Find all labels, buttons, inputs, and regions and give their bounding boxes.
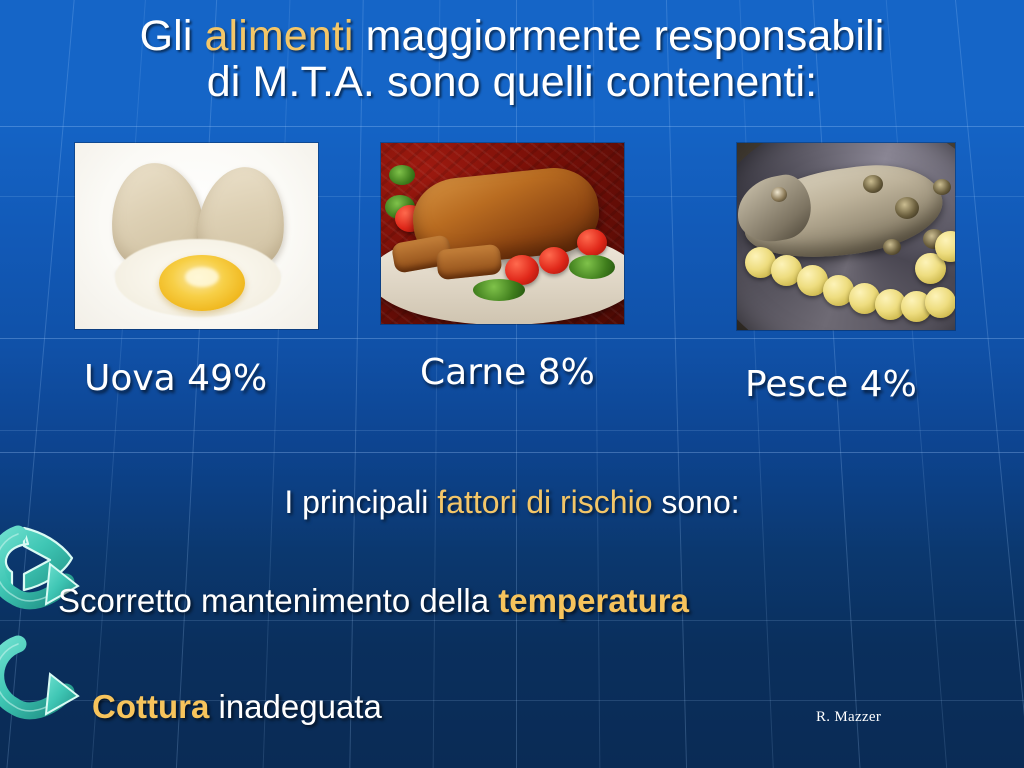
caption-pesce: Pesce 4% [745, 364, 917, 405]
title-line-1: Gli alimenti maggiormente responsabili [0, 14, 1024, 60]
tomato-shape [577, 229, 607, 256]
fish-with-potatoes-photo [737, 143, 955, 330]
fish-eye-icon [771, 187, 787, 202]
page-title: Gli alimenti maggiormente responsabili d… [0, 14, 1024, 105]
risk-item-cottura-keyword: Cottura [92, 688, 209, 725]
curved-arrow-icon [0, 634, 80, 730]
fish-scene [737, 143, 955, 330]
fish-spot [933, 179, 951, 195]
potato-balls-row [739, 247, 955, 329]
egg-scene [75, 143, 318, 329]
risk-item-cottura-post: inadeguata [209, 688, 382, 725]
title-line-1-pre: Gli [140, 12, 205, 60]
roast-meat-platter-photo [381, 143, 624, 324]
parsley-garnish [473, 279, 525, 301]
risk-item-temperature-pre: Scorretto mantenimento della [58, 582, 498, 619]
egg-yolk-shape [159, 255, 245, 311]
risk-item-cottura: Cottura inadeguata [92, 688, 382, 726]
title-line-2: di M.T.A. sono quelli contenenti: [0, 60, 1024, 106]
risk-factors-heading: I principali fattori di rischio sono: [0, 484, 1024, 521]
cracked-eggs-photo [75, 143, 318, 329]
risk-item-temperature-keyword: temperatura [498, 582, 689, 619]
risk-heading-keyword: fattori di rischio [437, 484, 652, 520]
tomato-shape [539, 247, 569, 274]
caption-carne: Carne 8% [420, 352, 595, 393]
meat-scene [381, 143, 624, 324]
caption-uova: Uova 49% [84, 358, 267, 399]
title-line-1-post: maggiormente responsabili [354, 12, 885, 60]
risk-heading-post: sono: [652, 484, 739, 520]
risk-heading-pre: I principali [284, 484, 437, 520]
slide-canvas: Gli alimenti maggiormente responsabili d… [0, 0, 1024, 768]
risk-item-temperature: Scorretto mantenimento della temperatura [58, 582, 689, 620]
parsley-garnish [389, 165, 415, 185]
parsley-garnish [569, 255, 615, 279]
fish-spot [895, 197, 919, 219]
author-credit: R. Mazzer [816, 709, 881, 726]
fish-spot [863, 175, 883, 193]
title-keyword-alimenti: alimenti [205, 12, 354, 60]
